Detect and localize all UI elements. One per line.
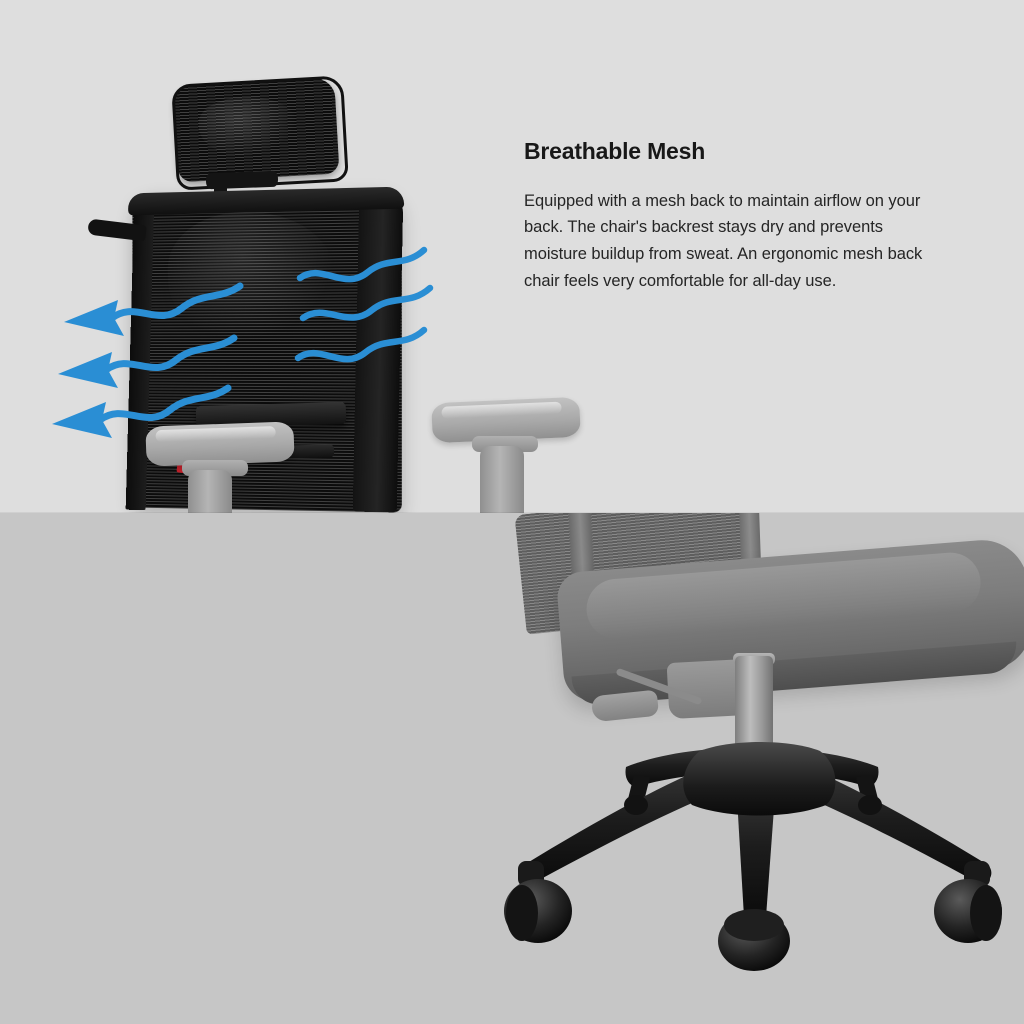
breathable-mesh-text: Breathable Mesh Equipped with a mesh bac… xyxy=(524,138,944,294)
breathable-mesh-title: Breathable Mesh xyxy=(524,138,944,166)
caster-wheel xyxy=(624,795,648,815)
backrest-frame-right xyxy=(353,196,404,513)
base-hub xyxy=(683,742,835,816)
right-armrest-post xyxy=(480,446,524,513)
panel-high-quality-chair-leg: High Quality Chair Leg The chair legs ar… xyxy=(0,513,1024,1024)
airflow-arrowhead-1 xyxy=(64,300,124,336)
airflow-arrowhead-2 xyxy=(58,352,118,388)
caster-left xyxy=(504,861,572,943)
caster-right xyxy=(934,861,1002,943)
caster-center-front xyxy=(718,909,790,971)
caster-rear-left xyxy=(624,795,648,815)
chair-illustration-bottom xyxy=(0,513,1024,1024)
caster-rear-right xyxy=(858,795,882,815)
caster-wheel xyxy=(858,795,882,815)
infographic-page: Breathable Mesh Equipped with a mesh bac… xyxy=(0,0,1024,1024)
breathable-mesh-body: Equipped with a mesh back to maintain ai… xyxy=(524,188,944,295)
left-armrest-post xyxy=(188,470,232,513)
panel-breathable-mesh: Breathable Mesh Equipped with a mesh bac… xyxy=(0,0,1024,513)
five-star-base-group xyxy=(0,513,1024,1024)
airflow-arrowhead-3 xyxy=(52,402,112,438)
